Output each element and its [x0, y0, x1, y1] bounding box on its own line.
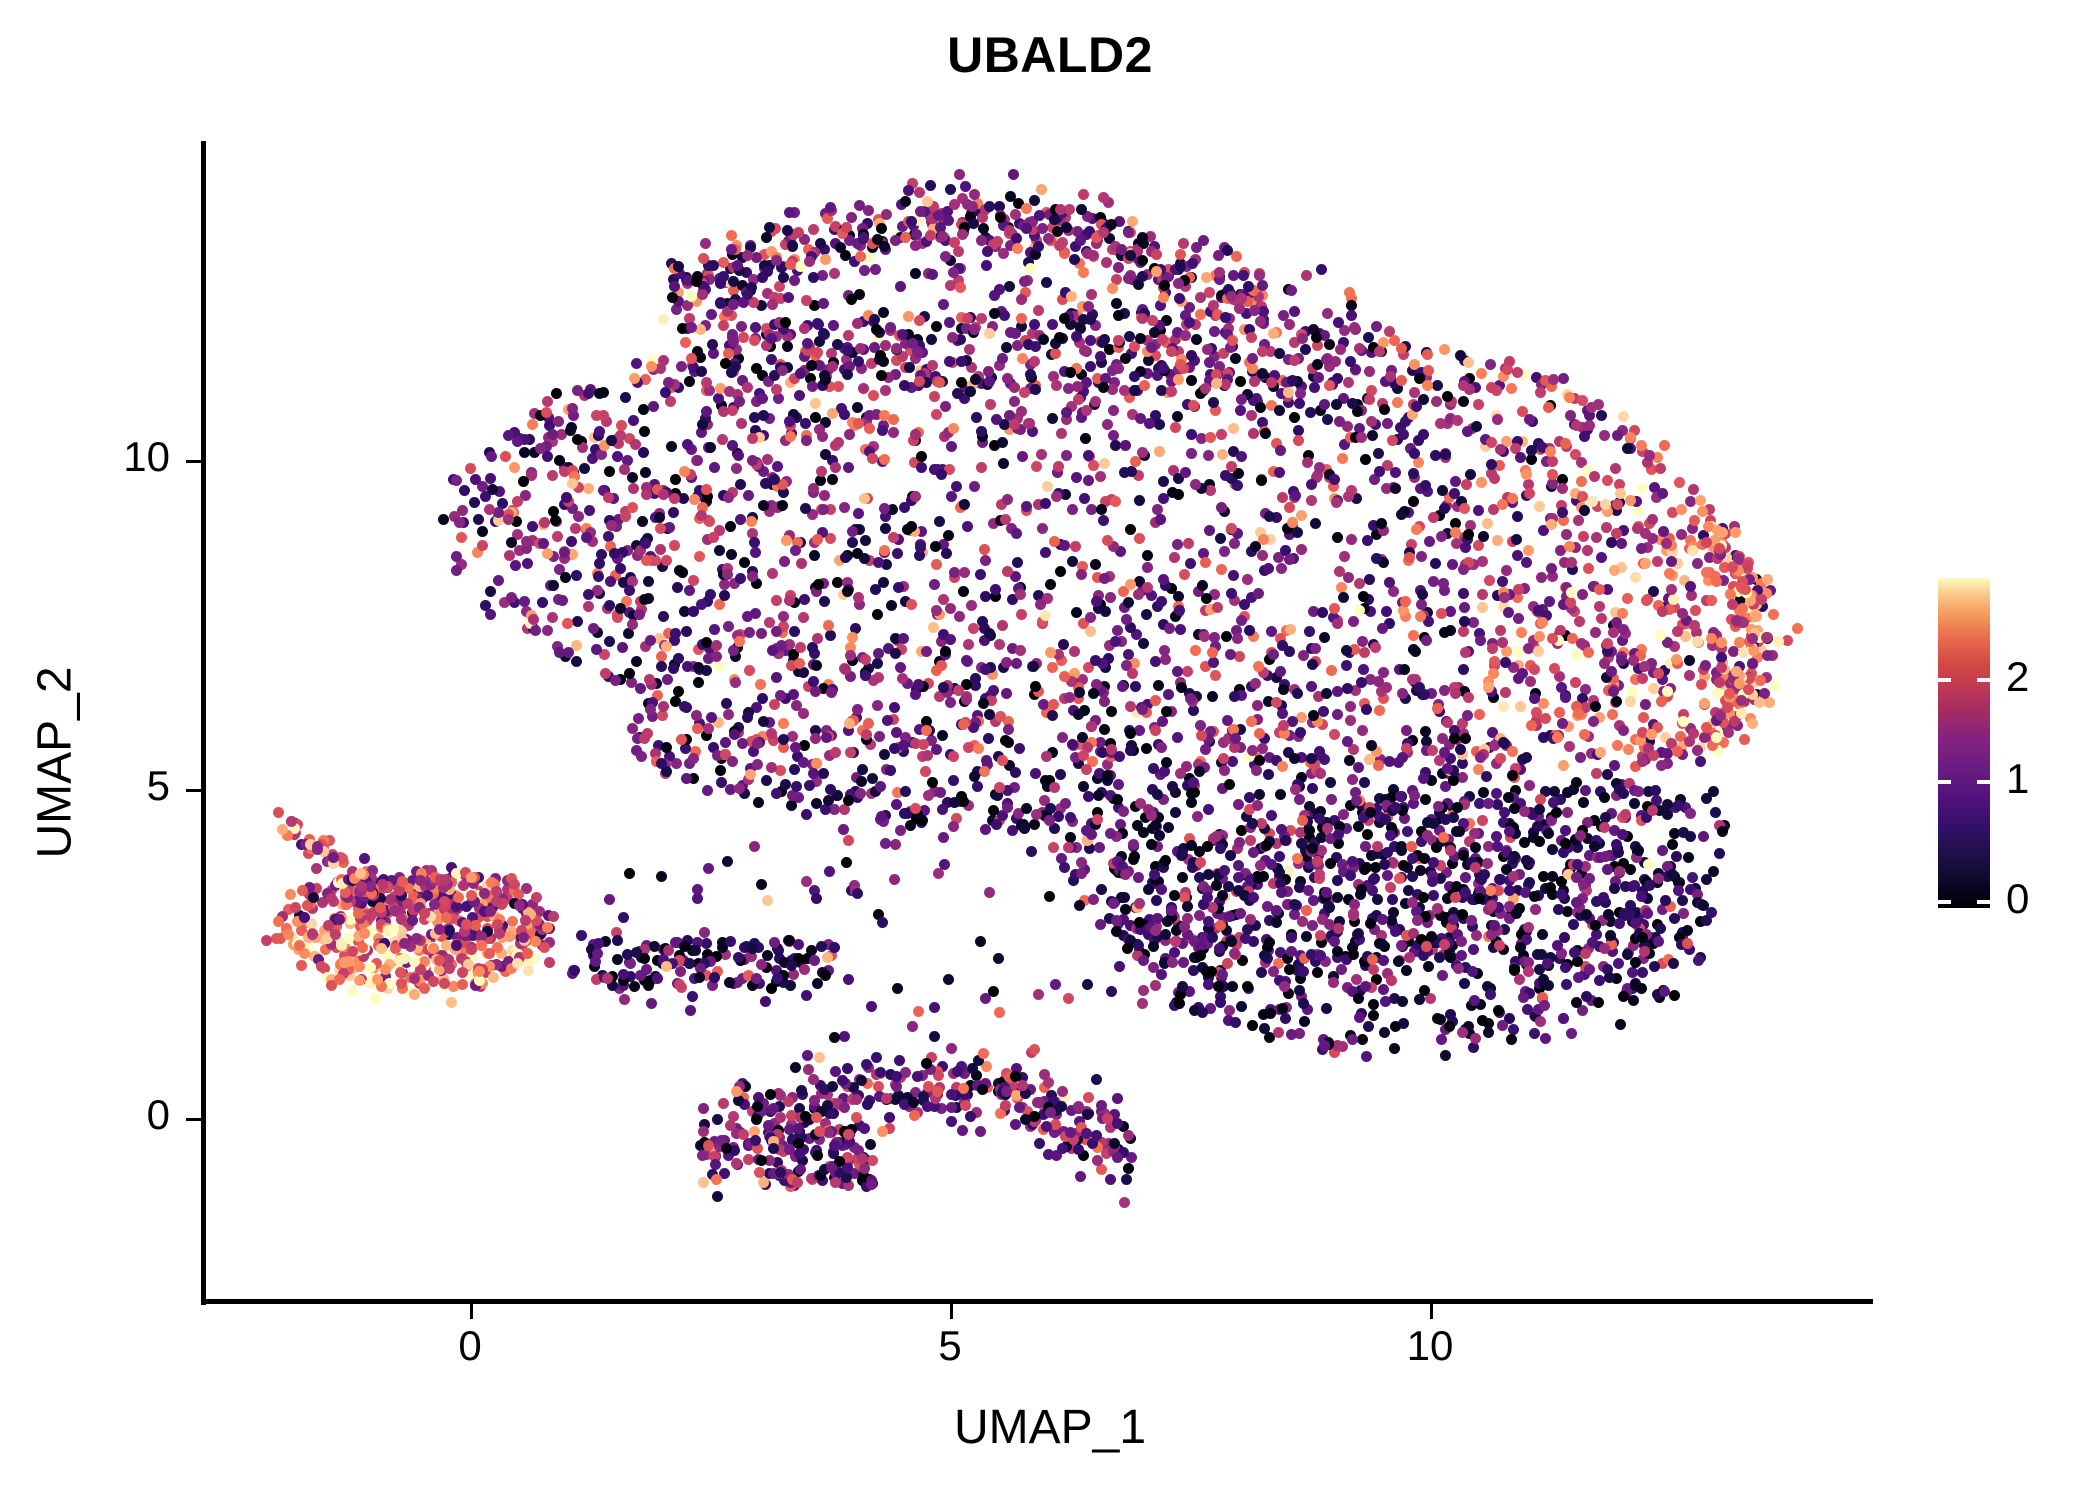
scatter-point: [809, 1095, 820, 1106]
scatter-point: [828, 320, 839, 331]
scatter-point: [1147, 315, 1158, 326]
scatter-point: [1011, 528, 1022, 539]
scatter-point: [542, 922, 553, 933]
scatter-point: [604, 466, 615, 477]
scatter-point: [1098, 515, 1109, 526]
scatter-point: [1711, 576, 1722, 587]
scatter-point: [1004, 281, 1015, 292]
scatter-point: [485, 473, 496, 484]
scatter-point: [1521, 752, 1532, 763]
scatter-point: [1157, 716, 1168, 727]
scatter-point: [1001, 342, 1012, 353]
scatter-point: [708, 260, 719, 271]
scatter-point: [976, 462, 987, 473]
scatter-point: [328, 852, 339, 863]
scatter-point: [1048, 699, 1059, 710]
scatter-point: [833, 437, 844, 448]
scatter-point: [1400, 596, 1411, 607]
scatter-point: [890, 648, 901, 659]
scatter-point: [1095, 919, 1106, 930]
scatter-point: [1083, 1092, 1094, 1103]
scatter-point: [801, 435, 812, 446]
scatter-point: [778, 718, 789, 729]
scatter-point: [656, 661, 667, 672]
scatter-point: [1549, 786, 1560, 797]
scatter-point: [1016, 313, 1027, 324]
scatter-point: [1687, 545, 1698, 556]
scatter-point: [980, 824, 991, 835]
scatter-point: [409, 973, 420, 984]
scatter-point: [1289, 306, 1300, 317]
scatter-point: [711, 640, 722, 651]
scatter-point: [1285, 624, 1296, 635]
scatter-point: [1009, 419, 1020, 430]
scatter-point: [786, 800, 797, 811]
scatter-point: [1578, 531, 1589, 542]
scatter-point: [771, 255, 782, 266]
scatter-point: [1154, 830, 1165, 841]
scatter-point: [1529, 664, 1540, 675]
scatter-point: [1594, 584, 1605, 595]
scatter-point: [1001, 688, 1012, 699]
scatter-point: [1364, 754, 1375, 765]
scatter-point: [718, 406, 729, 417]
scatter-point: [1700, 660, 1711, 671]
scatter-point: [1487, 643, 1498, 654]
scatter-point: [1300, 344, 1311, 355]
scatter-point: [1174, 293, 1185, 304]
scatter-point: [518, 476, 529, 487]
scatter-point: [1536, 572, 1547, 583]
scatter-point: [1112, 1118, 1123, 1129]
scatter-point: [1447, 559, 1458, 570]
scatter-point: [1302, 457, 1313, 468]
scatter-point: [681, 626, 692, 637]
scatter-point: [713, 393, 724, 404]
scatter-point: [353, 908, 364, 919]
scatter-plot-area: [205, 141, 1873, 1302]
scatter-point: [1319, 632, 1330, 643]
scatter-point: [1105, 828, 1116, 839]
scatter-point: [880, 340, 891, 351]
scatter-point: [728, 1111, 739, 1122]
scatter-point: [551, 388, 562, 399]
scatter-point: [997, 353, 1008, 364]
scatter-point: [1215, 920, 1226, 931]
scatter-point: [1085, 612, 1096, 623]
scatter-point: [1533, 646, 1544, 657]
scatter-point: [1128, 839, 1139, 850]
scatter-point: [839, 1031, 850, 1042]
scatter-point: [926, 334, 937, 345]
scatter-point: [1656, 760, 1667, 771]
scatter-point: [1133, 872, 1144, 883]
scatter-point: [1289, 355, 1300, 366]
scatter-point: [296, 960, 307, 971]
scatter-point: [1546, 519, 1557, 530]
scatter-point: [1492, 535, 1503, 546]
scatter-point: [1277, 708, 1288, 719]
scatter-point: [693, 662, 704, 673]
scatter-point: [1526, 445, 1537, 456]
scatter-point: [864, 423, 875, 434]
scatter-point: [1199, 631, 1210, 642]
scatter-point: [708, 532, 719, 543]
scatter-point: [1710, 807, 1721, 818]
scatter-point: [673, 686, 684, 697]
scatter-point: [1040, 610, 1051, 621]
scatter-point: [1146, 839, 1157, 850]
scatter-point: [286, 816, 297, 827]
scatter-point: [1268, 649, 1279, 660]
scatter-point: [409, 989, 420, 1000]
scatter-point: [285, 889, 296, 900]
scatter-point: [612, 451, 623, 462]
scatter-point: [890, 235, 901, 246]
scatter-point: [572, 616, 583, 627]
scatter-point: [984, 328, 995, 339]
scatter-point: [473, 514, 484, 525]
scatter-point: [588, 623, 599, 634]
scatter-point: [528, 614, 539, 625]
scatter-point: [1515, 452, 1526, 463]
scatter-point: [1182, 666, 1193, 677]
scatter-point: [538, 538, 549, 549]
scatter-point: [1334, 416, 1345, 427]
scatter-point: [768, 1103, 779, 1114]
scatter-point: [1092, 814, 1103, 825]
scatter-point: [723, 621, 734, 632]
scatter-point: [469, 497, 480, 508]
scatter-point: [1648, 750, 1659, 761]
scatter-point: [1159, 280, 1170, 291]
scatter-point: [615, 603, 626, 614]
scatter-point: [712, 1114, 723, 1125]
scatter-point: [514, 900, 525, 911]
scatter-point: [1428, 512, 1439, 523]
scatter-point: [1105, 592, 1116, 603]
scatter-point: [1244, 625, 1255, 636]
scatter-point: [1456, 950, 1467, 961]
scatter-point: [1616, 655, 1627, 666]
scatter-point: [1584, 420, 1595, 431]
scatter-point: [925, 180, 936, 191]
scatter-point: [760, 478, 771, 489]
scatter-point: [1106, 706, 1117, 717]
scatter-point: [1543, 402, 1554, 413]
scatter-point: [1696, 679, 1707, 690]
scatter-point: [628, 415, 639, 426]
scatter-point: [1106, 744, 1117, 755]
scatter-point: [669, 281, 680, 292]
scatter-point: [547, 612, 558, 623]
scatter-point: [604, 636, 615, 647]
scatter-point: [839, 502, 850, 513]
scatter-point: [1455, 350, 1466, 361]
scatter-point: [1266, 377, 1277, 388]
scatter-point: [810, 398, 821, 409]
scatter-point: [1648, 683, 1659, 694]
scatter-point: [1422, 349, 1433, 360]
scatter-point: [718, 257, 729, 268]
scatter-point: [1235, 405, 1246, 416]
scatter-point: [439, 978, 450, 989]
scatter-point: [1002, 802, 1013, 813]
scatter-point: [1099, 724, 1110, 735]
scatter-point: [1504, 885, 1515, 896]
scatter-point: [875, 781, 886, 792]
scatter-point: [1172, 411, 1183, 422]
scatter-point: [876, 223, 887, 234]
scatter-point: [1571, 649, 1582, 660]
scatter-point: [466, 890, 477, 901]
scatter-point: [842, 369, 853, 380]
scatter-point: [1495, 625, 1506, 636]
scatter-point: [1009, 382, 1020, 393]
scatter-point: [1582, 545, 1593, 556]
scatter-point: [1513, 613, 1524, 624]
scatter-point: [572, 434, 583, 445]
scatter-point: [640, 538, 651, 549]
scatter-point: [711, 1174, 722, 1185]
scatter-point: [509, 879, 520, 890]
scatter-point: [1246, 716, 1257, 727]
scatter-point: [726, 230, 737, 241]
scatter-point: [1186, 797, 1197, 808]
scatter-point: [1256, 967, 1267, 978]
scatter-point: [1073, 709, 1084, 720]
scatter-point: [1274, 467, 1285, 478]
scatter-point: [955, 282, 966, 293]
scatter-point: [1125, 579, 1136, 590]
scatter-point: [1090, 559, 1101, 570]
scatter-point: [708, 348, 719, 359]
scatter-point: [283, 929, 294, 940]
scatter-point: [775, 1112, 786, 1123]
scatter-point: [1256, 475, 1267, 486]
scatter-point: [667, 292, 678, 303]
scatter-point: [1566, 557, 1577, 568]
scatter-point: [1071, 472, 1082, 483]
scatter-point: [1615, 488, 1626, 499]
scatter-point: [1630, 572, 1641, 583]
scatter-point: [676, 734, 687, 745]
scatter-point: [1671, 654, 1682, 665]
scatter-point: [746, 516, 757, 527]
scatter-point: [1247, 353, 1258, 364]
scatter-point: [867, 453, 878, 464]
scatter-point: [668, 663, 679, 674]
scatter-point: [1015, 589, 1026, 600]
scatter-point: [706, 309, 717, 320]
scatter-point: [1590, 627, 1601, 638]
scatter-point: [557, 595, 568, 606]
scatter-point: [1257, 346, 1268, 357]
scatter-point: [674, 565, 685, 576]
scatter-point: [1233, 799, 1244, 810]
scatter-point: [1500, 657, 1511, 668]
scatter-point: [1203, 450, 1214, 461]
scatter-point: [446, 997, 457, 1008]
scatter-point: [1045, 579, 1056, 590]
scatter-point: [819, 596, 830, 607]
scatter-point: [1250, 678, 1261, 689]
scatter-point: [658, 611, 669, 622]
scatter-point: [1045, 647, 1056, 658]
scatter-point: [297, 885, 308, 896]
scatter-point: [1180, 330, 1191, 341]
scatter-point: [859, 493, 870, 504]
scatter-point: [709, 624, 720, 635]
scatter-point: [1025, 263, 1036, 274]
scatter-point: [662, 674, 673, 685]
scatter-point: [1215, 533, 1226, 544]
scatter-point: [1284, 502, 1295, 513]
scatter-point: [839, 804, 850, 815]
scatter-point: [1054, 332, 1065, 343]
scatter-point: [1404, 552, 1415, 563]
scatter-point: [1041, 277, 1052, 288]
scatter-point: [968, 623, 979, 634]
scatter-point: [1420, 726, 1431, 737]
scatter-point: [1387, 894, 1398, 905]
scatter-point: [1321, 688, 1332, 699]
scatter-point: [1178, 238, 1189, 249]
scatter-point: [1643, 859, 1654, 870]
scatter-point: [1698, 831, 1709, 842]
scatter-point: [898, 740, 909, 751]
scatter-point: [1306, 479, 1317, 490]
scatter-point: [1254, 789, 1265, 800]
scatter-point: [936, 469, 947, 480]
scatter-point: [571, 656, 582, 667]
scatter-point: [1685, 496, 1696, 507]
scatter-point: [1296, 544, 1307, 555]
scatter-point: [744, 665, 755, 676]
scatter-point: [1436, 608, 1447, 619]
scatter-point: [1465, 469, 1476, 480]
scatter-point: [745, 769, 756, 780]
scatter-point: [1439, 627, 1450, 638]
scatter-point: [863, 205, 874, 216]
scatter-point: [560, 572, 571, 583]
scatter-point: [1246, 332, 1257, 343]
scatter-point: [629, 373, 640, 384]
scatter-point: [1201, 272, 1212, 283]
scatter-point: [794, 390, 805, 401]
scatter-point: [711, 651, 722, 662]
scatter-point: [1283, 387, 1294, 398]
scatter-point: [1399, 664, 1410, 675]
scatter-point: [738, 332, 749, 343]
scatter-point: [1622, 443, 1633, 454]
scatter-point: [488, 972, 499, 983]
scatter-point: [1148, 763, 1159, 774]
scatter-point: [1010, 767, 1021, 778]
scatter-point: [769, 474, 780, 485]
scatter-point: [728, 276, 739, 287]
scatter-point: [1516, 627, 1527, 638]
scatter-point: [1172, 732, 1183, 743]
scatter-point: [1459, 616, 1470, 627]
scatter-point: [927, 360, 938, 371]
scatter-point: [624, 585, 635, 596]
scatter-point: [1221, 631, 1232, 642]
scatter-point: [1345, 715, 1356, 726]
scatter-point: [934, 516, 945, 527]
scatter-point: [466, 944, 477, 955]
scatter-point: [1284, 319, 1295, 330]
scatter-point: [1175, 624, 1186, 635]
scatter-point: [1474, 709, 1485, 720]
scatter-point: [903, 185, 914, 196]
scatter-point: [778, 734, 789, 745]
scatter-point: [1531, 707, 1542, 718]
scatter-point: [1220, 470, 1231, 481]
scatter-point: [1044, 815, 1055, 826]
scatter-point: [1178, 957, 1189, 968]
scatter-point: [1402, 826, 1413, 837]
scatter-point: [521, 536, 532, 547]
scatter-point: [747, 455, 758, 466]
scatter-point: [485, 586, 496, 597]
scatter-point: [961, 655, 972, 666]
scatter-point: [1080, 433, 1091, 444]
scatter-point: [334, 974, 345, 985]
scatter-point: [1102, 419, 1113, 430]
scatter-point: [1573, 708, 1584, 719]
scatter-point: [1637, 483, 1648, 494]
scatter-point: [1708, 786, 1719, 797]
scatter-point: [1407, 897, 1418, 908]
scatter-point: [1292, 688, 1303, 699]
scatter-point: [761, 775, 772, 786]
scatter-point: [893, 582, 904, 593]
scatter-point: [1249, 376, 1260, 387]
scatter-point: [1501, 565, 1512, 576]
scatter-point: [1076, 569, 1087, 580]
scatter-point: [881, 209, 892, 220]
scatter-point: [1037, 523, 1048, 534]
scatter-point: [1359, 647, 1370, 658]
scatter-point: [1512, 367, 1523, 378]
scatter-point: [948, 751, 959, 762]
scatter-point: [1329, 603, 1340, 614]
scatter-point: [984, 628, 995, 639]
scatter-point: [539, 517, 550, 528]
scatter-point: [1274, 405, 1285, 416]
scatter-point: [925, 230, 936, 241]
scatter-point: [853, 592, 864, 603]
scatter-point: [1025, 369, 1036, 380]
scatter-point: [825, 202, 836, 213]
scatter-point: [547, 470, 558, 481]
scatter-point: [1317, 607, 1328, 618]
scatter-point: [772, 461, 783, 472]
scatter-point: [1209, 326, 1220, 337]
scatter-point: [1129, 371, 1140, 382]
scatter-point: [937, 804, 948, 815]
scatter-point: [1071, 331, 1082, 342]
scatter-point: [1129, 851, 1140, 862]
scatter-point: [594, 558, 605, 569]
scatter-point: [1061, 450, 1072, 461]
scatter-point: [1169, 552, 1180, 563]
scatter-point: [747, 433, 758, 444]
scatter-point: [1612, 430, 1623, 441]
scatter-point: [375, 902, 386, 913]
scatter-point: [1109, 1138, 1120, 1149]
